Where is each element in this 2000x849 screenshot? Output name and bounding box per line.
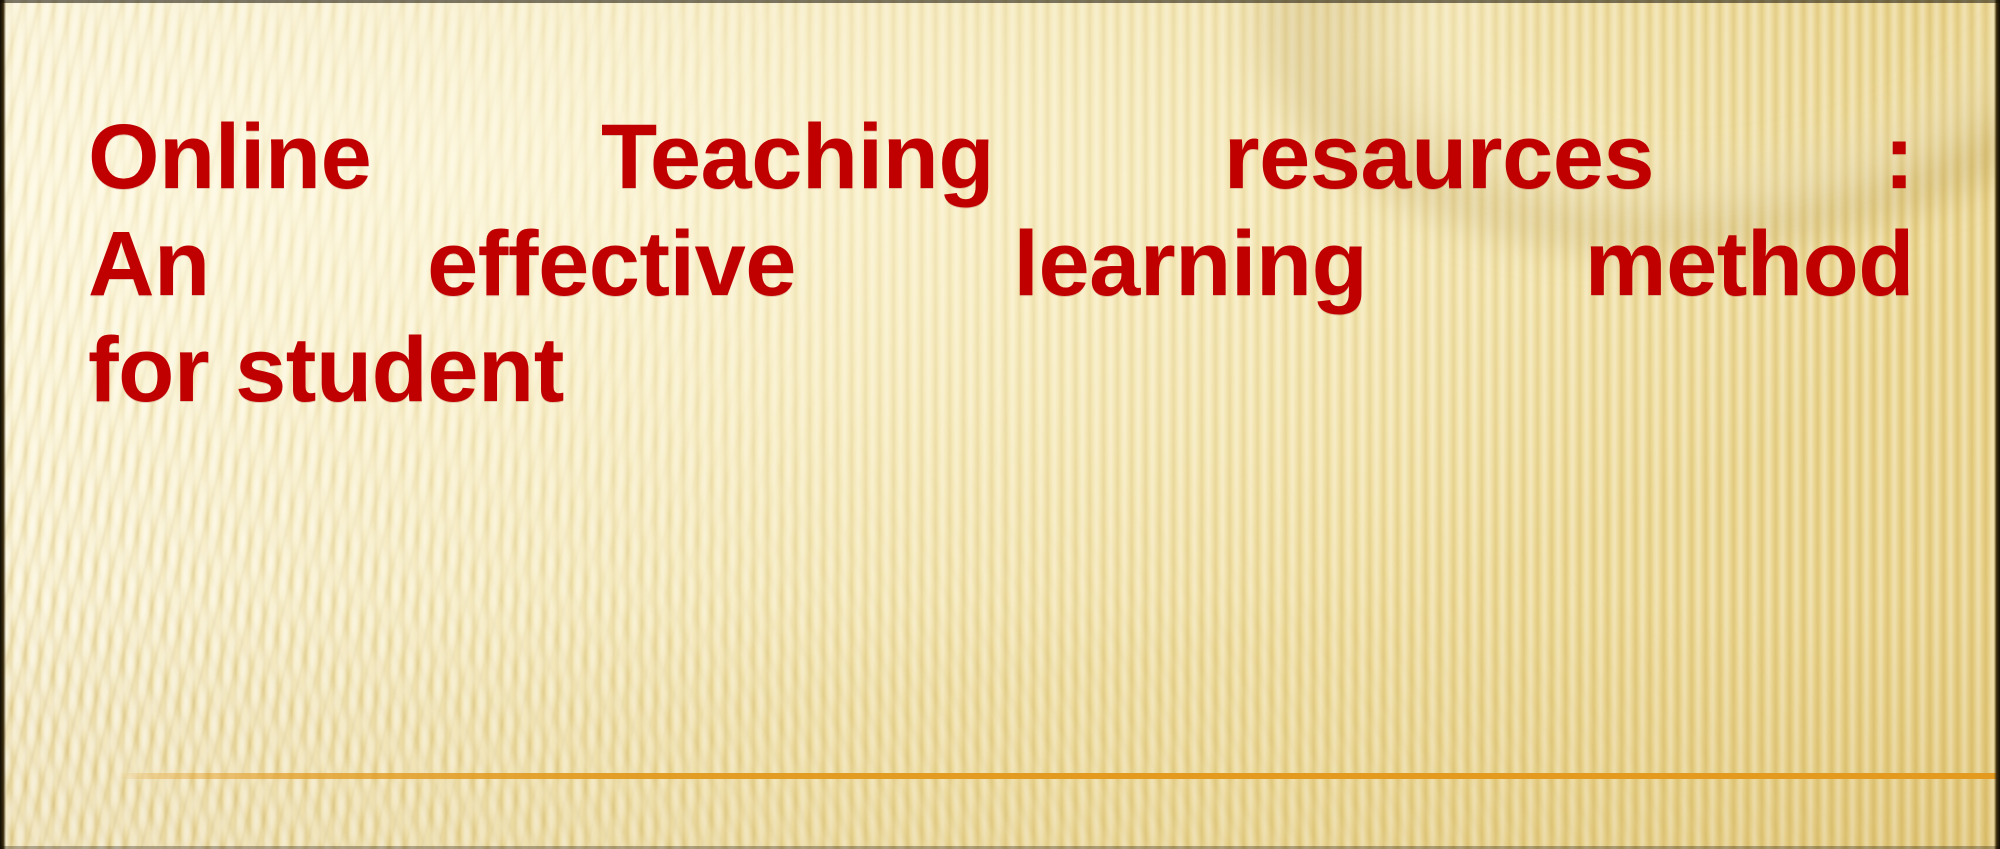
accent-divider-rule (0, 773, 2000, 779)
presentation-slide: Online Teaching resaurces : An effective… (0, 0, 2000, 849)
slide-edge-right (1994, 0, 2000, 849)
title-word: learning (1013, 211, 1367, 318)
title-word: student (235, 317, 564, 424)
title-word: method (1585, 211, 1914, 318)
slide-edge-top (0, 0, 2000, 3)
title-line-1: Online Teaching resaurces : (88, 104, 1914, 211)
title-word: resaurces (1224, 104, 1654, 211)
title-word: Online (88, 104, 371, 211)
slide-edge-left (0, 0, 6, 849)
title-word: An (88, 211, 210, 318)
slide-title: Online Teaching resaurces : An effective… (88, 104, 1914, 424)
title-word: for (88, 317, 209, 424)
title-word: effective (427, 211, 796, 318)
title-word: : (1884, 104, 1914, 211)
title-line-3: for student (88, 317, 1914, 424)
title-line-2: An effective learning method (88, 211, 1914, 318)
title-word: Teaching (601, 104, 994, 211)
